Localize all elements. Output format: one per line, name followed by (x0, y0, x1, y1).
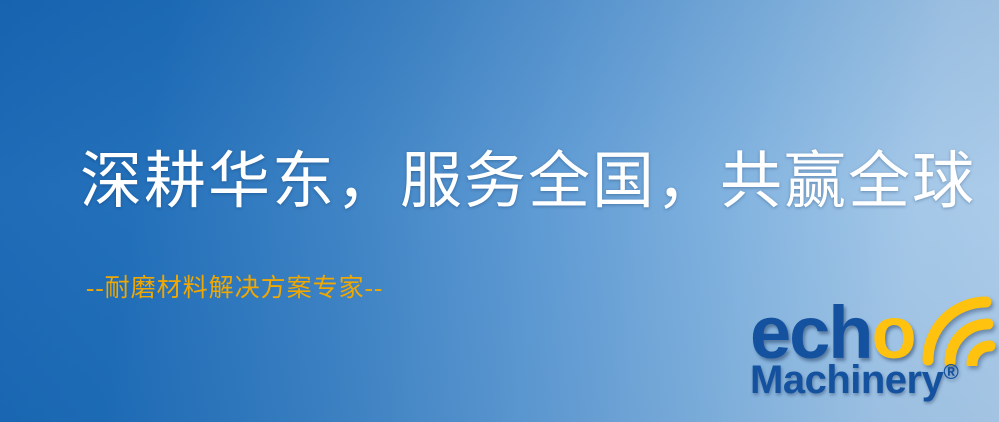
logo-company-name: Machinery® (750, 360, 959, 400)
registered-trademark-icon: ® (943, 361, 958, 384)
banner-subtitle: --耐磨材料解决方案专家-- (86, 268, 383, 304)
logo-company-name-text: Machinery (750, 358, 943, 402)
echo-machinery-logo: echo Machinery® (748, 294, 999, 422)
banner-headline: 深耕华东，服务全国，共赢全球 (80, 150, 976, 215)
promo-banner: 深耕华东，服务全国，共赢全球 --耐磨材料解决方案专家-- echo Machi… (0, 0, 999, 422)
signal-waves-icon (920, 294, 999, 366)
